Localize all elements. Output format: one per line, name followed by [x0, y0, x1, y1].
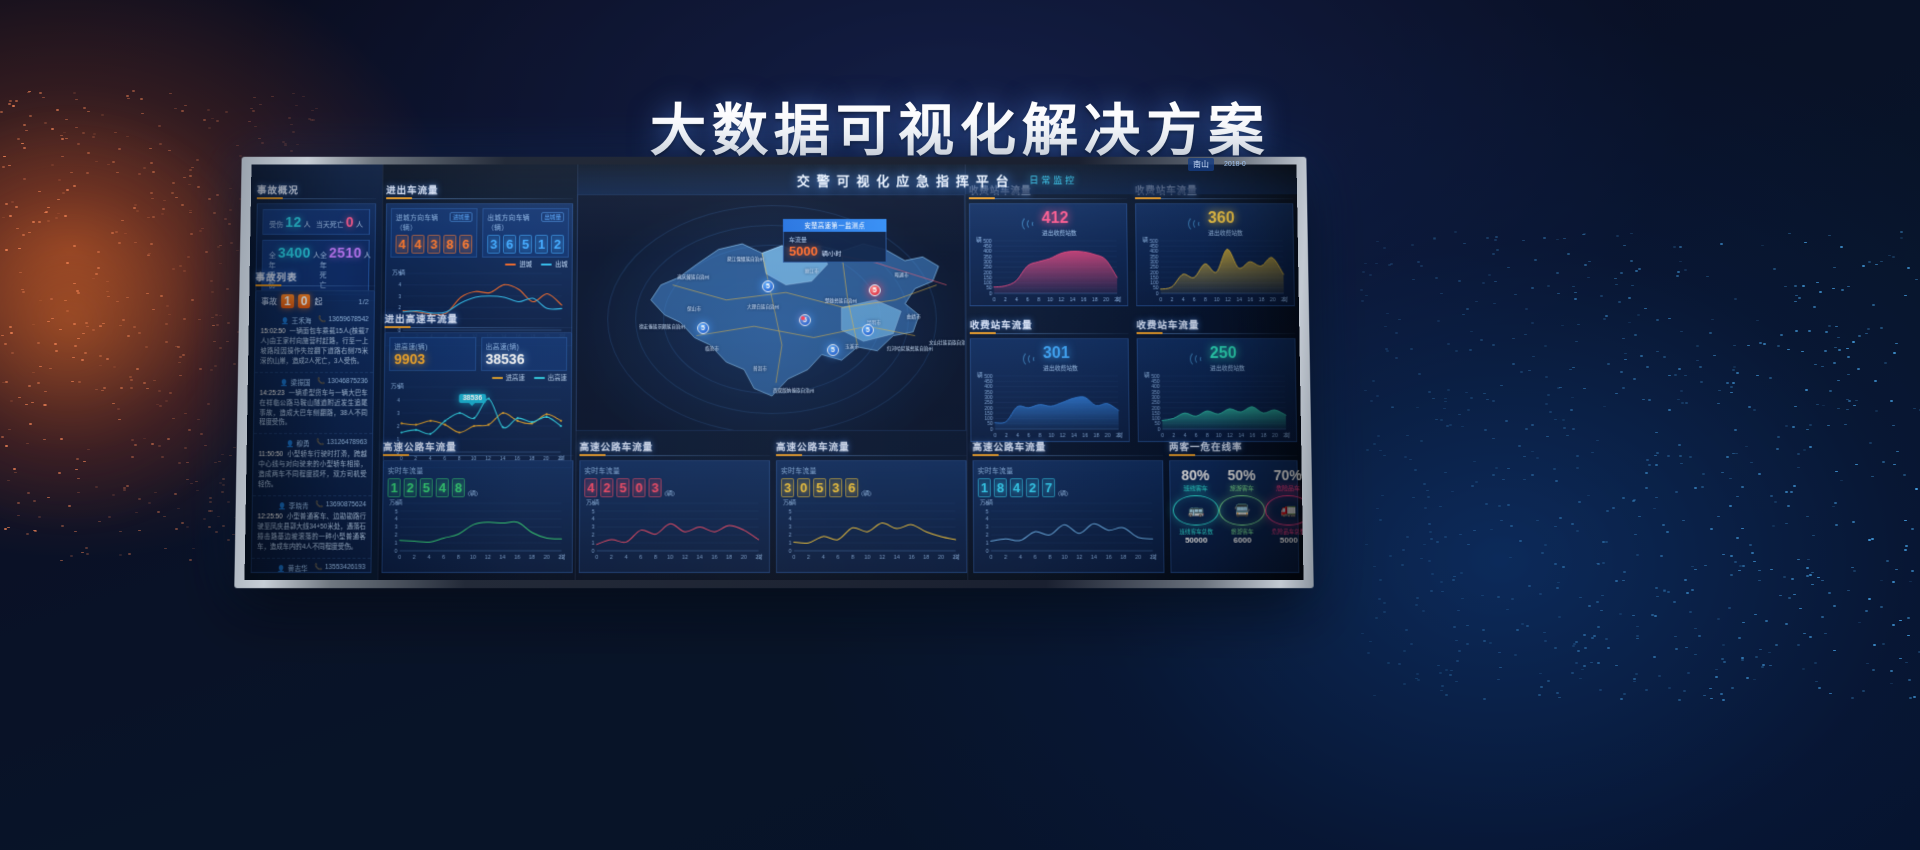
signal-wave-icon	[1188, 351, 1206, 367]
map-tooltip-title: 安楚高速第一监测点	[783, 219, 887, 232]
chart-toll-station: 辆050100150200250300350400450500024681012…	[1140, 237, 1289, 304]
particle-field-right	[1360, 230, 1920, 700]
map-tooltip-value: 5000	[789, 244, 818, 259]
bus-icon: 🚌	[1188, 502, 1204, 518]
online-rate-name: 班线客车	[1172, 483, 1218, 492]
map-marker[interactable]: 5	[827, 344, 839, 356]
svg-text:12: 12	[485, 555, 491, 561]
svg-text:300: 300	[984, 395, 993, 401]
accident-meta: 👤 黄志华📞 13553426193	[257, 563, 366, 573]
svg-text:4: 4	[1015, 298, 1018, 304]
odometer-digit: 2	[404, 478, 417, 497]
chart-toll-station: 辆050100150200250300350400450500024681012…	[975, 372, 1125, 440]
legend-highway-in-out: 进高速出高速	[389, 373, 567, 382]
svg-text:350: 350	[983, 254, 992, 260]
accident-list-pager[interactable]: 1/2	[358, 297, 369, 306]
svg-text:2: 2	[397, 424, 400, 430]
accident-meta: 👤 梁振国📞 13046875236	[260, 377, 368, 387]
map-city-label: 楚雄彝族自治州	[825, 298, 857, 304]
svg-text:3: 3	[398, 294, 401, 300]
odometer-unit: (辆)	[665, 488, 675, 497]
accident-count-unit: 起	[314, 296, 322, 307]
toll-caption: 进出收费站数	[1208, 228, 1243, 237]
svg-text:18: 18	[1120, 555, 1126, 561]
svg-text:2: 2	[1004, 555, 1007, 561]
odometer-digit: 5	[420, 478, 433, 497]
map-incident-dot[interactable]	[801, 316, 805, 320]
y-axis-unit: 辆	[1142, 236, 1148, 244]
y-axis-unit: 万/辆	[391, 382, 404, 390]
odometer-highway-flow: 42503	[584, 478, 661, 497]
online-rate-count: 50000	[1173, 536, 1219, 545]
online-rate-item[interactable]: 80%班线客车🚌班线客车总数50000	[1172, 467, 1219, 545]
svg-text:12: 12	[682, 555, 688, 561]
panel-title-highway-flow: 高速公路车流量	[383, 439, 574, 456]
accident-meta: 👤 李晓青📞 13690875624	[258, 500, 367, 510]
odometer-digit: 5	[616, 478, 629, 497]
svg-text:0: 0	[1159, 298, 1162, 304]
map-tooltip-metric-label: 车流量	[789, 235, 881, 244]
legend-label: 进城	[519, 262, 532, 269]
svg-text:200: 200	[1150, 270, 1159, 276]
online-rate-item[interactable]: 50%旅游客车🚍旅游客车6000	[1218, 467, 1265, 545]
svg-text:500: 500	[1150, 239, 1159, 245]
map-city-label: 玉溪市	[845, 344, 859, 350]
legend-item: 进城	[505, 260, 532, 269]
svg-text:450: 450	[984, 379, 993, 385]
toll-gauge: 412进出收费站数	[974, 207, 1123, 237]
map-marker[interactable]: 5	[869, 284, 881, 296]
chart-highway-flow: 万/辆01234560246810121416182022时	[584, 499, 765, 562]
accident-count-label: 事故	[261, 296, 277, 307]
accident-meta: 👤 穆勇📞 13126478963	[259, 438, 367, 448]
map-marker[interactable]: 5	[862, 324, 874, 336]
odometer-digit: 0	[632, 478, 645, 497]
stat-unit: 人	[356, 220, 363, 230]
svg-text:6: 6	[442, 555, 445, 561]
svg-text:0: 0	[993, 298, 996, 304]
map-city-label: 普洱市	[753, 366, 767, 372]
panel-highway-flow: 高速公路车流量实时车流量12548(辆)万/辆01234560246810121…	[381, 439, 573, 576]
card-highway-out: 出高速(辆) 38536	[481, 337, 568, 371]
svg-text:4: 4	[1182, 298, 1185, 304]
odometer-digit: 6	[459, 235, 472, 254]
svg-text:400: 400	[1151, 384, 1160, 390]
svg-text:8: 8	[851, 555, 854, 561]
panel-toll-station: 收费站车流量412进出收费站数辆050100150200250300350400…	[969, 182, 1128, 309]
svg-text:16: 16	[1247, 298, 1253, 304]
svg-text:1: 1	[394, 541, 397, 547]
svg-text:12: 12	[1076, 555, 1082, 561]
svg-text:2: 2	[592, 533, 595, 539]
video-wall-screen: 事故概况 受伤 12 人 当天死亡 0	[244, 165, 1303, 580]
svg-text:时: 时	[757, 553, 763, 561]
map-shape	[577, 195, 966, 430]
stat-value: 12	[285, 214, 302, 230]
truck-icon: 🚛	[1280, 502, 1297, 518]
stat-unit: 人	[364, 251, 371, 261]
accident-time: 11:50:50	[259, 451, 284, 458]
svg-text:时: 时	[560, 553, 566, 561]
odometer-digit: 7	[1042, 478, 1055, 497]
svg-text:500: 500	[984, 374, 993, 380]
svg-text:16: 16	[1106, 555, 1112, 561]
svg-text:16: 16	[1081, 298, 1087, 304]
svg-text:3: 3	[592, 525, 595, 531]
accident-list-item[interactable]: 👤 王禾海📞 1365967854215:02:50 一辆面包车乘载15人(核载…	[255, 311, 374, 372]
vehicle-icon-ring: 🚍	[1219, 495, 1266, 525]
odometer-digit: 1	[978, 478, 991, 497]
map-tooltip: 安楚高速第一监测点 车流量 5000 辆/小时	[783, 219, 887, 263]
accident-items-container[interactable]: 👤 王禾海📞 1365967854215:02:50 一辆面包车乘载15人(核载…	[251, 311, 374, 573]
svg-text:4: 4	[625, 555, 628, 561]
legend-item: 出高速	[534, 373, 567, 382]
reporter-name: 👤 李晓青	[279, 500, 309, 510]
online-rate-count-label: 旅游客车	[1219, 528, 1265, 536]
panel-title-highway-flow: 高速公路车流量	[776, 439, 967, 456]
svg-text:2: 2	[807, 555, 810, 561]
svg-text:50: 50	[1155, 421, 1161, 427]
svg-text:350: 350	[1150, 254, 1159, 260]
chart-toll-station: 辆050100150200250300350400450500024681012…	[1142, 372, 1292, 440]
online-rate-percent: 50%	[1218, 467, 1264, 483]
panel-title-online-rate: 两客一危在线率	[1169, 439, 1298, 456]
svg-text:200: 200	[984, 406, 993, 412]
svg-text:4: 4	[395, 517, 398, 523]
vehicle-icon-ring: 🚛	[1265, 495, 1304, 525]
card-caption: 出高速(辆)	[486, 341, 563, 351]
odometer-digit: 3	[781, 478, 794, 497]
accident-text: 15:02:50 一辆面包车乘载15人(核载7人)由王家村向施营村赶路，行至一上…	[260, 327, 368, 367]
svg-text:300: 300	[1150, 260, 1159, 266]
odometer-digit: 4	[411, 235, 424, 254]
svg-text:14: 14	[1091, 555, 1097, 561]
svg-text:3: 3	[395, 525, 398, 531]
video-wall: 事故概况 受伤 12 人 当天死亡 0	[238, 155, 1310, 587]
svg-text:150: 150	[1150, 275, 1159, 281]
odometer-digit: 8	[452, 478, 465, 497]
odometer-highway-flow: 18427	[978, 478, 1055, 497]
svg-text:4: 4	[427, 555, 430, 561]
svg-text:2: 2	[986, 533, 989, 539]
panel-highway-flow: 高速公路车流量实时车流量30536(辆)万/辆01234560246810121…	[776, 439, 967, 576]
accident-count-digit: 1	[281, 294, 294, 308]
svg-text:20: 20	[1135, 555, 1141, 561]
stat-value: 2510	[329, 245, 362, 261]
svg-text:6: 6	[1193, 298, 1196, 304]
map-tooltip-unit: 辆/小时	[822, 249, 842, 258]
svg-text:14: 14	[894, 555, 900, 561]
odometer-digit: 5	[519, 235, 532, 254]
legend-label: 出高速	[548, 375, 567, 382]
reporter-phone: 📞 13046875236	[317, 377, 368, 387]
card-caption: 进高速(辆)	[394, 341, 471, 351]
svg-text:2: 2	[413, 555, 416, 561]
reporter-phone: 📞 13690875624	[316, 500, 367, 510]
card-out-city: 出城量 出城方向车辆（辆） 36512	[482, 208, 569, 257]
svg-text:时: 时	[1116, 296, 1121, 304]
accident-text: 11:50:50 小型轿车行驶时打滑，跨越中心线与对向驶来的小型轿车相撞，造成两…	[258, 450, 367, 490]
svg-text:20: 20	[938, 555, 944, 561]
stat-value: 0	[346, 214, 354, 230]
map-city-label: 迪庆藏族自治州	[677, 274, 709, 280]
map-city-label: 文山壮族苗族自治州	[929, 340, 967, 346]
odometer-digit: 3	[829, 478, 842, 497]
svg-text:20: 20	[1270, 298, 1276, 304]
stat-death-today: 当天死亡 0 人	[316, 214, 363, 230]
svg-text:时: 时	[1283, 296, 1288, 304]
svg-text:12: 12	[1225, 298, 1231, 304]
toll-caption: 进出收费站数	[1042, 228, 1077, 237]
panel-caption: 实时车流量	[584, 465, 765, 475]
panel-toll-station: 收费站车流量301进出收费站数辆050100150200250300350400…	[970, 317, 1130, 445]
panel-title-in-out-flow: 进出车流量	[386, 182, 573, 199]
map-marker[interactable]: 5	[762, 280, 774, 292]
svg-text:4: 4	[985, 517, 988, 523]
reporter-name: 👤 黄志华	[278, 563, 308, 573]
svg-text:50: 50	[986, 286, 992, 292]
signal-wave-icon	[1021, 351, 1039, 367]
screen-header-title: 交警可视化应急指挥平台	[797, 170, 1016, 189]
svg-text:3: 3	[986, 525, 989, 531]
chart-highway-flow: 万/辆01234560246810121416182022时	[781, 499, 962, 562]
odometer-unit: (辆)	[1058, 488, 1068, 497]
svg-text:1: 1	[591, 541, 594, 547]
y-axis-unit: 辆	[1144, 371, 1150, 379]
odometer-digit: 4	[436, 478, 449, 497]
map-marker[interactable]: 5	[697, 322, 709, 334]
svg-text:300: 300	[983, 260, 992, 266]
chart-highway-flow: 万/辆01234560246810121416182022时	[978, 499, 1160, 562]
svg-text:8: 8	[457, 555, 460, 561]
panel-title-accident-overview: 事故概况	[257, 182, 377, 199]
odometer-out-city: 36512	[487, 235, 564, 254]
svg-text:0: 0	[394, 549, 397, 555]
map-city-label: 西双版纳傣族自治州	[773, 388, 814, 394]
svg-text:16: 16	[908, 555, 914, 561]
svg-text:18: 18	[1092, 298, 1098, 304]
svg-text:0: 0	[398, 555, 401, 561]
toll-caption: 进出收费站数	[1210, 363, 1245, 372]
odometer-digit: 0	[797, 478, 810, 497]
odometer-digit: 8	[994, 478, 1007, 497]
stat-row: 受伤 12 人 当天死亡 0 人	[262, 209, 370, 235]
svg-text:4: 4	[789, 517, 792, 523]
y-axis-unit: 万/辆	[586, 498, 599, 506]
stat-value: 3400	[278, 245, 311, 261]
panel-toll-station: 收费站车流量360进出收费站数辆050100150200250300350400…	[1135, 182, 1295, 309]
region-badge[interactable]: 南山	[1188, 158, 1214, 171]
online-rate-count-label: 危险品车总数	[1265, 528, 1303, 536]
map-city-label: 丽江市	[805, 268, 819, 274]
svg-text:500: 500	[1151, 374, 1160, 380]
svg-text:5: 5	[592, 509, 595, 515]
svg-text:6: 6	[1026, 298, 1029, 304]
panel-caption: 实时车流量	[388, 465, 569, 475]
svg-text:0: 0	[1157, 427, 1160, 433]
svg-text:150: 150	[984, 411, 993, 417]
accident-list-item[interactable]: 👤 穆勇📞 1312647896311:50:50 小型轿车行驶时打滑，跨越中心…	[253, 434, 372, 496]
svg-text:0: 0	[789, 549, 792, 555]
odometer-digit: 3	[648, 478, 661, 497]
accident-list-item[interactable]: 👤 黄志华📞 1355342619311:10:21 一辆大货车与一辆面包车相撞…	[251, 559, 371, 573]
svg-text:20: 20	[544, 555, 550, 561]
online-rate-item[interactable]: 70%危险品车🚛危险品车总数5000	[1265, 467, 1304, 545]
svg-text:0: 0	[989, 555, 992, 561]
stat-label: 受伤	[269, 220, 283, 230]
page-root: 大数据可视化解决方案 事故概况 受伤 12 人	[0, 0, 1920, 850]
svg-text:10: 10	[1214, 298, 1220, 304]
svg-text:8: 8	[1037, 298, 1040, 304]
svg-text:0: 0	[792, 555, 795, 561]
legend-item: 进高速	[492, 373, 525, 382]
svg-text:0: 0	[989, 291, 992, 297]
svg-text:200: 200	[983, 270, 992, 276]
screen-header-subtitle[interactable]: 日常监控	[1029, 173, 1077, 186]
map-city-label: 昭通市	[895, 272, 909, 278]
map-city-label: 大理白族自治州	[747, 304, 779, 310]
svg-text:16: 16	[514, 555, 520, 561]
svg-text:1: 1	[986, 541, 989, 547]
svg-text:0: 0	[990, 427, 993, 433]
odometer-digit: 4	[584, 478, 597, 497]
stat-injured-today: 受伤 12 人	[269, 214, 311, 230]
svg-text:3: 3	[397, 411, 400, 417]
accident-list-item[interactable]: 👤 李晓青📞 1369087562412:25:50 小型普通客车、边勘勘路行驶…	[252, 496, 372, 558]
svg-text:8: 8	[654, 555, 657, 561]
svg-text:400: 400	[983, 249, 992, 255]
accident-text: 12:25:50 小型普通客车、边勘勘路行驶至凤庆县郭大线34+50米处，遇落石…	[257, 512, 366, 552]
legend-label: 出城	[555, 262, 568, 269]
svg-text:150: 150	[1152, 411, 1161, 417]
toll-value: 250	[1210, 345, 1237, 362]
svg-text:2: 2	[1170, 298, 1173, 304]
svg-text:250: 250	[983, 265, 992, 271]
vehicle-icon-ring: 🚌	[1173, 495, 1220, 525]
card-highway-in: 进高速(辆) 9903	[389, 337, 476, 371]
svg-text:12: 12	[1058, 298, 1064, 304]
svg-text:18: 18	[529, 555, 535, 561]
panel-title-highway-in-out: 进出高速车流量	[385, 311, 573, 328]
svg-text:14: 14	[499, 555, 505, 561]
svg-text:450: 450	[1150, 244, 1159, 250]
svg-text:400: 400	[984, 384, 993, 390]
svg-text:5: 5	[985, 509, 988, 515]
panel-title-highway-flow: 高速公路车流量	[972, 439, 1163, 456]
panel-accident-list: 事故列表 事故 1 0 起 1/2 👤 王禾海📞 1365967854215:0…	[251, 269, 376, 571]
svg-text:18: 18	[923, 555, 929, 561]
svg-text:18: 18	[726, 555, 732, 561]
panel-title-highway-flow: 高速公路车流量	[579, 439, 770, 456]
odometer-digit: 6	[503, 235, 516, 254]
reporter-phone: 📞 13553426193	[315, 563, 366, 573]
svg-text:6: 6	[836, 555, 839, 561]
signal-wave-icon	[1020, 216, 1038, 232]
panel-highway-flow: 高速公路车流量实时车流量18427(辆)万/辆01234560246810121…	[972, 439, 1164, 576]
odometer-digit: 2	[600, 478, 613, 497]
svg-text:12: 12	[879, 555, 885, 561]
svg-text:0: 0	[595, 555, 598, 561]
panel-highway-flow: 高速公路车流量实时车流量42503(辆)万/辆01234560246810121…	[579, 439, 770, 576]
svg-text:10: 10	[1047, 298, 1053, 304]
map-city-label: 曲靖市	[907, 314, 921, 320]
reporter-phone: 📞 13126478963	[316, 438, 367, 448]
svg-text:100: 100	[984, 281, 993, 287]
online-rate-name: 危险品车	[1265, 483, 1304, 492]
panel-title-toll-station: 收费站车流量	[970, 317, 1129, 334]
accident-count-row: 事故 1 0 起 1/2	[256, 291, 374, 311]
svg-text:6: 6	[639, 555, 642, 561]
legend-label: 进高速	[506, 375, 525, 382]
accident-time: 12:25:50	[258, 513, 283, 520]
panel-online-rate: 两客一危在线率80%班线客车🚌班线客车总数5000050%旅游客车🚍旅游客车60…	[1169, 439, 1300, 576]
chart-toll-station: 辆050100150200250300350400450500024681012…	[974, 237, 1123, 304]
svg-text:10: 10	[864, 555, 870, 561]
svg-text:200: 200	[1152, 406, 1161, 412]
online-rate-percent: 80%	[1172, 467, 1218, 483]
toll-value: 412	[1042, 210, 1069, 227]
dashboard-left-column: 事故概况 受伤 12 人 当天死亡 0	[244, 165, 382, 580]
svg-text:0: 0	[591, 549, 594, 555]
y-axis-unit: 万/辆	[389, 498, 402, 506]
odometer-unit: (辆)	[468, 488, 478, 497]
svg-text:6: 6	[1034, 555, 1037, 561]
toll-gauge: 250进出收费站数	[1142, 342, 1291, 372]
chart-highway-flow: 万/辆01234560246810121416182022时	[387, 499, 569, 562]
accident-list-item[interactable]: 👤 梁振国📞 1304687523614:25:23 一辆重型货车与一辆大巴车在…	[254, 373, 373, 435]
value-highway-out: 38536	[486, 351, 563, 367]
svg-text:4: 4	[397, 398, 400, 404]
svg-text:0: 0	[1156, 291, 1159, 297]
tag-in-city: 进城量	[450, 212, 473, 222]
map-panel[interactable]: 怒江傈僳族自治州丽江市迪庆藏族自治州大理白族自治州楚雄彝族自治州昭通市保山市昆明…	[576, 194, 967, 431]
reporter-name: 👤 王禾海	[282, 315, 312, 325]
svg-text:50: 50	[987, 421, 993, 427]
svg-text:8: 8	[1048, 555, 1051, 561]
svg-text:300: 300	[1151, 395, 1160, 401]
svg-text:5: 5	[789, 509, 792, 515]
toll-value: 360	[1208, 210, 1235, 227]
svg-text:150: 150	[984, 275, 993, 281]
accident-text: 14:25:23 一辆重型货车与一辆大巴车在祥临公路马鞍山隧道附近发生追尾事故，…	[259, 389, 368, 429]
svg-text:100: 100	[984, 416, 993, 422]
online-rate-count-label: 班线客车总数	[1173, 528, 1219, 536]
y-axis-unit: 万/辆	[392, 268, 405, 276]
svg-text:3: 3	[789, 525, 792, 531]
odometer-digit: 1	[387, 478, 400, 497]
svg-text:10: 10	[470, 555, 476, 561]
odometer-digit: 5	[813, 478, 826, 497]
legend-in-out-flow: 进城出城	[390, 260, 567, 269]
odometer-digit: 4	[1010, 478, 1023, 497]
panel-caption: 实时车流量	[781, 465, 962, 475]
svg-text:1: 1	[789, 541, 792, 547]
odometer-digit: 1	[535, 235, 548, 254]
svg-text:时: 时	[1152, 553, 1158, 561]
svg-text:450: 450	[983, 244, 992, 250]
card-in-city: 进城量 进城方向车辆（辆） 44386	[390, 208, 477, 257]
svg-text:2: 2	[1004, 298, 1007, 304]
odometer-in-city: 44386	[395, 235, 472, 254]
svg-text:250: 250	[984, 400, 993, 406]
y-axis-unit: 万/辆	[783, 498, 796, 506]
reporter-phone: 📞 13659678542	[318, 315, 368, 325]
stat-unit: 人	[304, 220, 311, 230]
svg-text:2: 2	[610, 555, 613, 561]
panel-title-accident-list: 事故列表	[255, 269, 375, 286]
map-city-label: 德宏傣族景颇族自治州	[639, 324, 685, 330]
svg-text:4: 4	[822, 555, 825, 561]
